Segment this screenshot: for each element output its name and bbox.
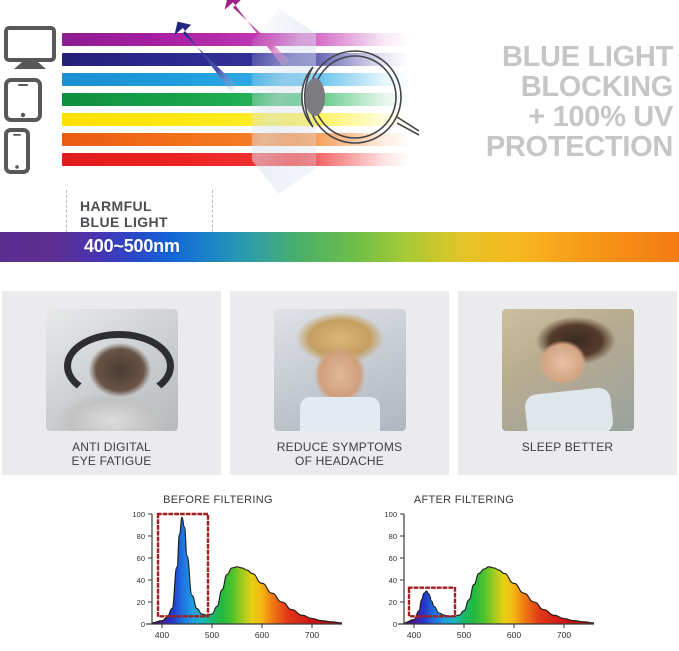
svg-text:700: 700 — [305, 630, 319, 640]
svg-text:20: 20 — [137, 598, 145, 607]
benefit-card-headache[interactable]: REDUCE SYMPTOMS OF HEADACHE — [230, 291, 449, 475]
svg-text:40: 40 — [137, 576, 145, 585]
chart-title: BEFORE FILTERING — [118, 494, 378, 506]
smartphone-icon — [4, 128, 30, 179]
wavelength-range-label: 400~500nm — [84, 236, 180, 257]
headline-line-1: BLUE LIGHT — [413, 42, 673, 72]
chart-after-filtering: AFTER FILTERING 020406080100400500600700 — [370, 494, 630, 651]
man-with-headphones-rubbing-eyes-photo — [46, 309, 178, 431]
page-title: BLUE LIGHT BLOCKING + 100% UV PROTECTION — [413, 42, 673, 162]
svg-text:60: 60 — [389, 554, 397, 563]
monitor-icon — [4, 26, 56, 75]
svg-text:40: 40 — [389, 576, 397, 585]
benefit-card-sleep[interactable]: SLEEP BETTER — [458, 291, 677, 475]
red-ray — [62, 153, 292, 166]
spectral-comparison-charts: BEFORE FILTERING 02040608010040050060070… — [0, 494, 679, 651]
svg-text:0: 0 — [141, 620, 145, 629]
benefit-caption: ANTI DIGITAL EYE FATIGUE — [72, 440, 152, 468]
yellow-ray — [62, 113, 292, 126]
svg-text:600: 600 — [255, 630, 269, 640]
orange-ray — [62, 133, 292, 146]
svg-text:0: 0 — [393, 620, 397, 629]
svg-text:80: 80 — [389, 532, 397, 541]
man-holding-head-in-pain-photo — [274, 309, 406, 431]
svg-text:80: 80 — [137, 532, 145, 541]
benefit-caption-line-2: OF HEADACHE — [277, 454, 402, 468]
benefit-caption: SLEEP BETTER — [522, 440, 614, 454]
svg-text:100: 100 — [384, 510, 397, 519]
svg-text:100: 100 — [132, 510, 145, 519]
reflected-light-arrows — [155, 0, 315, 106]
harmful-blue-light-band: HARMFUL BLUE LIGHT 400~500nm — [0, 190, 679, 278]
benefit-caption: REDUCE SYMPTOMS OF HEADACHE — [277, 440, 402, 468]
svg-text:600: 600 — [507, 630, 521, 640]
benefit-caption-line-1: SLEEP BETTER — [522, 440, 614, 454]
svg-text:20: 20 — [389, 598, 397, 607]
benefit-card-eye-fatigue[interactable]: ANTI DIGITAL EYE FATIGUE — [2, 291, 221, 475]
svg-text:400: 400 — [155, 630, 169, 640]
chart-title: AFTER FILTERING — [370, 494, 630, 506]
chart-after-plot: 020406080100400500600700 — [370, 508, 600, 650]
svg-text:500: 500 — [457, 630, 471, 640]
headline-line-3: + 100% UV — [413, 102, 673, 132]
harmful-blue-light-label: HARMFUL BLUE LIGHT — [80, 198, 168, 230]
benefit-caption-line-1: ANTI DIGITAL — [72, 440, 152, 454]
chart-before-filtering: BEFORE FILTERING 02040608010040050060070… — [118, 494, 378, 651]
chart-before-plot: 020406080100400500600700 — [118, 508, 348, 650]
eye-cross-section-icon — [293, 45, 433, 154]
headline-line-4: PROTECTION — [413, 132, 673, 162]
tablet-icon — [4, 78, 42, 127]
svg-text:60: 60 — [137, 554, 145, 563]
harmful-label-line-1: HARMFUL — [80, 198, 168, 214]
woman-sleeping-with-pillow-photo — [502, 309, 634, 431]
benefit-caption-line-1: REDUCE SYMPTOMS — [277, 440, 402, 454]
headline-line-2: BLOCKING — [413, 72, 673, 102]
benefits-row: ANTI DIGITAL EYE FATIGUE REDUCE SYMPTOMS… — [0, 291, 679, 475]
svg-text:500: 500 — [205, 630, 219, 640]
harmful-label-line-2: BLUE LIGHT — [80, 214, 168, 230]
svg-text:700: 700 — [557, 630, 571, 640]
benefit-caption-line-2: EYE FATIGUE — [72, 454, 152, 468]
svg-text:400: 400 — [407, 630, 421, 640]
